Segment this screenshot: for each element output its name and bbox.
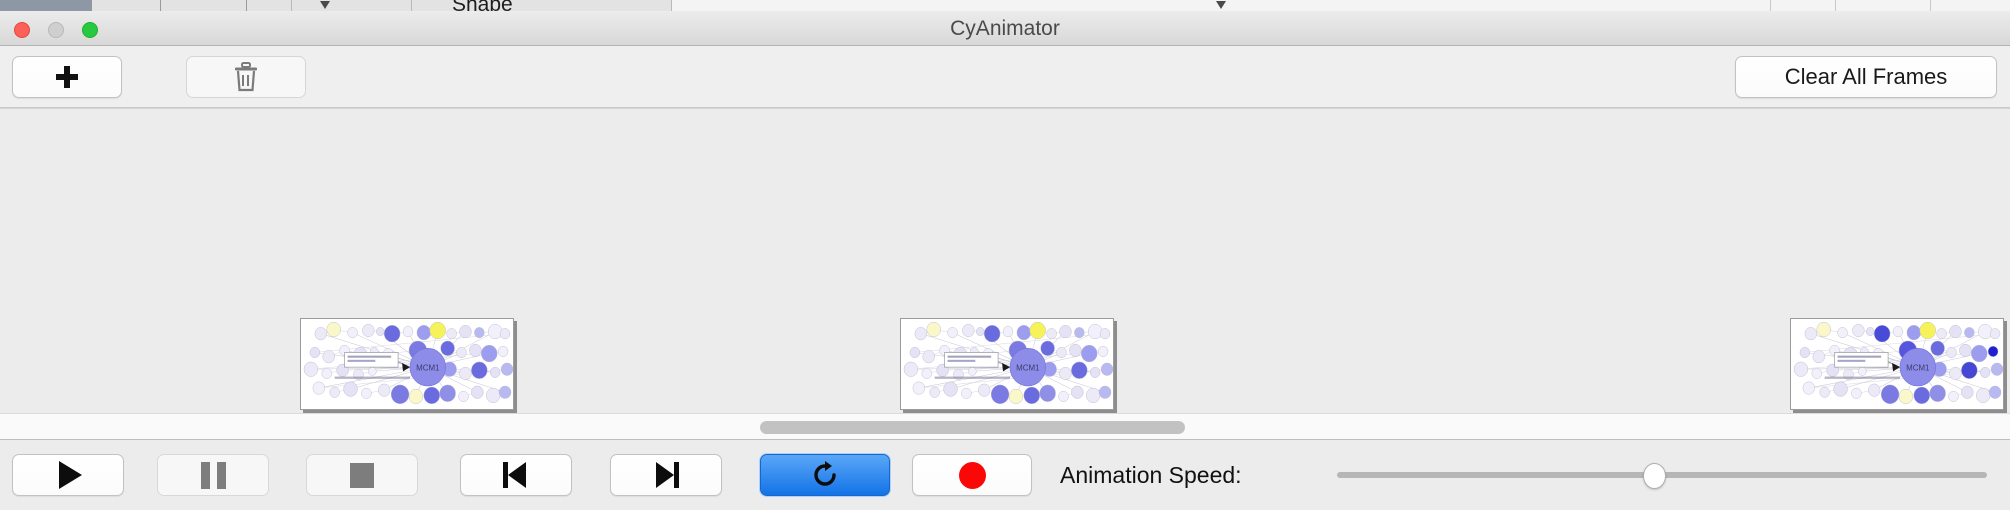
background-divider [1930,0,1931,11]
background-window-panel [412,0,672,11]
timeline-frame[interactable]: MCM1 [300,318,514,410]
background-divider [160,0,161,11]
title-bar: CyAnimator [0,11,2010,46]
trash-icon [233,62,259,92]
loop-icon [810,460,840,490]
record-icon [959,462,986,489]
svg-text:MCM1: MCM1 [1016,363,1040,372]
network-thumbnail-graphic: MCM1 [1791,319,2003,409]
record-button[interactable] [912,454,1032,496]
background-divider [1835,0,1836,11]
stop-button[interactable] [306,454,418,496]
previous-frame-button[interactable] [460,454,572,496]
timeline-scrollbar[interactable] [0,413,2010,440]
maximize-button[interactable] [82,22,98,38]
svg-text:MCM1: MCM1 [416,363,440,372]
network-thumbnail-graphic: MCM1 [901,319,1113,409]
background-window-panel [292,0,412,11]
minimize-button[interactable] [48,22,64,38]
page-title: CyAnimator [0,11,2010,46]
play-button[interactable] [12,454,124,496]
pause-icon [201,462,226,489]
play-icon [59,461,82,489]
timeline-frame[interactable]: MCM1 [900,318,1114,410]
toolbar: Clear All Frames [0,46,2010,108]
background-window-label: Shape [452,0,513,11]
network-thumbnail-graphic: MCM1 [301,319,513,409]
player-controls-bar: Animation Speed: [0,441,2010,510]
stop-icon [350,463,374,488]
background-arrow-icon [1216,1,1226,9]
background-window-strip: Shape [0,0,2010,11]
animation-speed-label: Animation Speed: [1060,454,1242,496]
pause-button[interactable] [157,454,269,496]
plus-icon [56,66,78,88]
background-window-sidebar [0,0,92,11]
clear-all-frames-label: Clear All Frames [1785,64,1948,90]
timeline-frame[interactable]: MCM1 [1790,318,2004,410]
delete-frame-button[interactable] [186,56,306,98]
background-divider [1770,0,1771,11]
timeline-top-divider [0,108,2010,109]
background-arrow-icon [320,1,330,9]
skip-back-icon [503,462,529,488]
timeline-panel[interactable]: MCM1 MCM1 MCM1 2131415161718 Seconds [0,108,2010,413]
skip-forward-icon [653,462,679,488]
animation-speed-slider[interactable] [1337,454,1987,496]
close-button[interactable] [14,22,30,38]
svg-text:MCM1: MCM1 [1906,363,1930,372]
cyanimator-window: Shape CyAnimator Clear All Frames [0,0,2010,510]
slider-thumb[interactable] [1643,463,1666,489]
background-window-panel [92,0,292,11]
background-divider [246,0,247,11]
add-frame-button[interactable] [12,56,122,98]
scrollbar-thumb[interactable] [760,421,1185,434]
clear-all-frames-button[interactable]: Clear All Frames [1735,56,1997,98]
loop-button[interactable] [760,454,890,496]
next-frame-button[interactable] [610,454,722,496]
